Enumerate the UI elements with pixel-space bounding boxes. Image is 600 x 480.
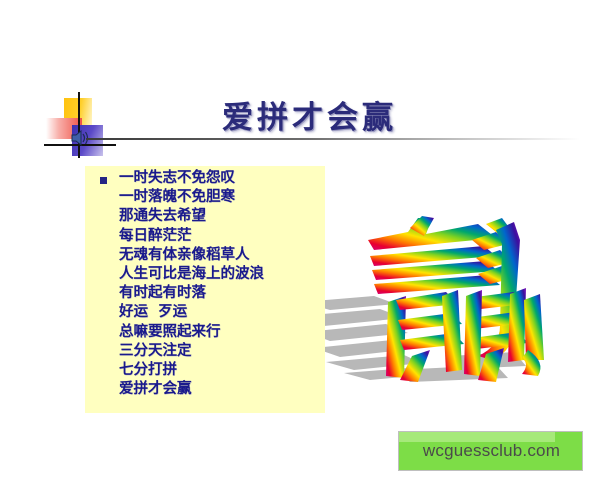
lyric-line: 每日醉茫茫 bbox=[119, 227, 325, 246]
lyrics-lines: 一时失志不免怨叹 一时落魄不免胆寒 那通失去希望 每日醉茫茫 无魂有体亲像稻草人… bbox=[119, 169, 325, 399]
bullet-marker bbox=[100, 177, 107, 184]
decorative-logo-cluster bbox=[44, 92, 116, 158]
lyric-line: 总嘛要照起来行 bbox=[119, 323, 325, 342]
watermark-text: wcguessclub.com bbox=[399, 441, 584, 461]
page-title: 爱拼才会赢 bbox=[222, 92, 397, 137]
lyric-line: 爱拼才会赢 bbox=[119, 380, 325, 399]
rainbow-win-artwork bbox=[300, 210, 550, 385]
slide-canvas: 爱拼才会赢 bbox=[0, 0, 600, 480]
lyric-line: 人生可比是海上的波浪 bbox=[119, 265, 325, 284]
title-divider bbox=[86, 138, 580, 140]
lyric-line: 无魂有体亲像稻草人 bbox=[119, 246, 325, 265]
lyric-line: 好运 歹运 bbox=[119, 303, 325, 322]
lyric-line: 一时落魄不免胆寒 bbox=[119, 188, 325, 207]
watermark-banner: wcguessclub.com bbox=[398, 431, 583, 471]
character-glyph bbox=[368, 216, 544, 382]
lyric-line: 一时失志不免怨叹 bbox=[119, 169, 325, 188]
lyric-line: 三分天注定 bbox=[119, 342, 325, 361]
lyric-line: 那通失去希望 bbox=[119, 207, 325, 226]
lyric-line: 七分打拼 bbox=[119, 361, 325, 380]
vertical-rule bbox=[78, 92, 80, 158]
lyrics-text-box: 一时失志不免怨叹 一时落魄不免胆寒 那通失去希望 每日醉茫茫 无魂有体亲像稻草人… bbox=[85, 166, 325, 413]
lyric-line: 有时起有时落 bbox=[119, 284, 325, 303]
